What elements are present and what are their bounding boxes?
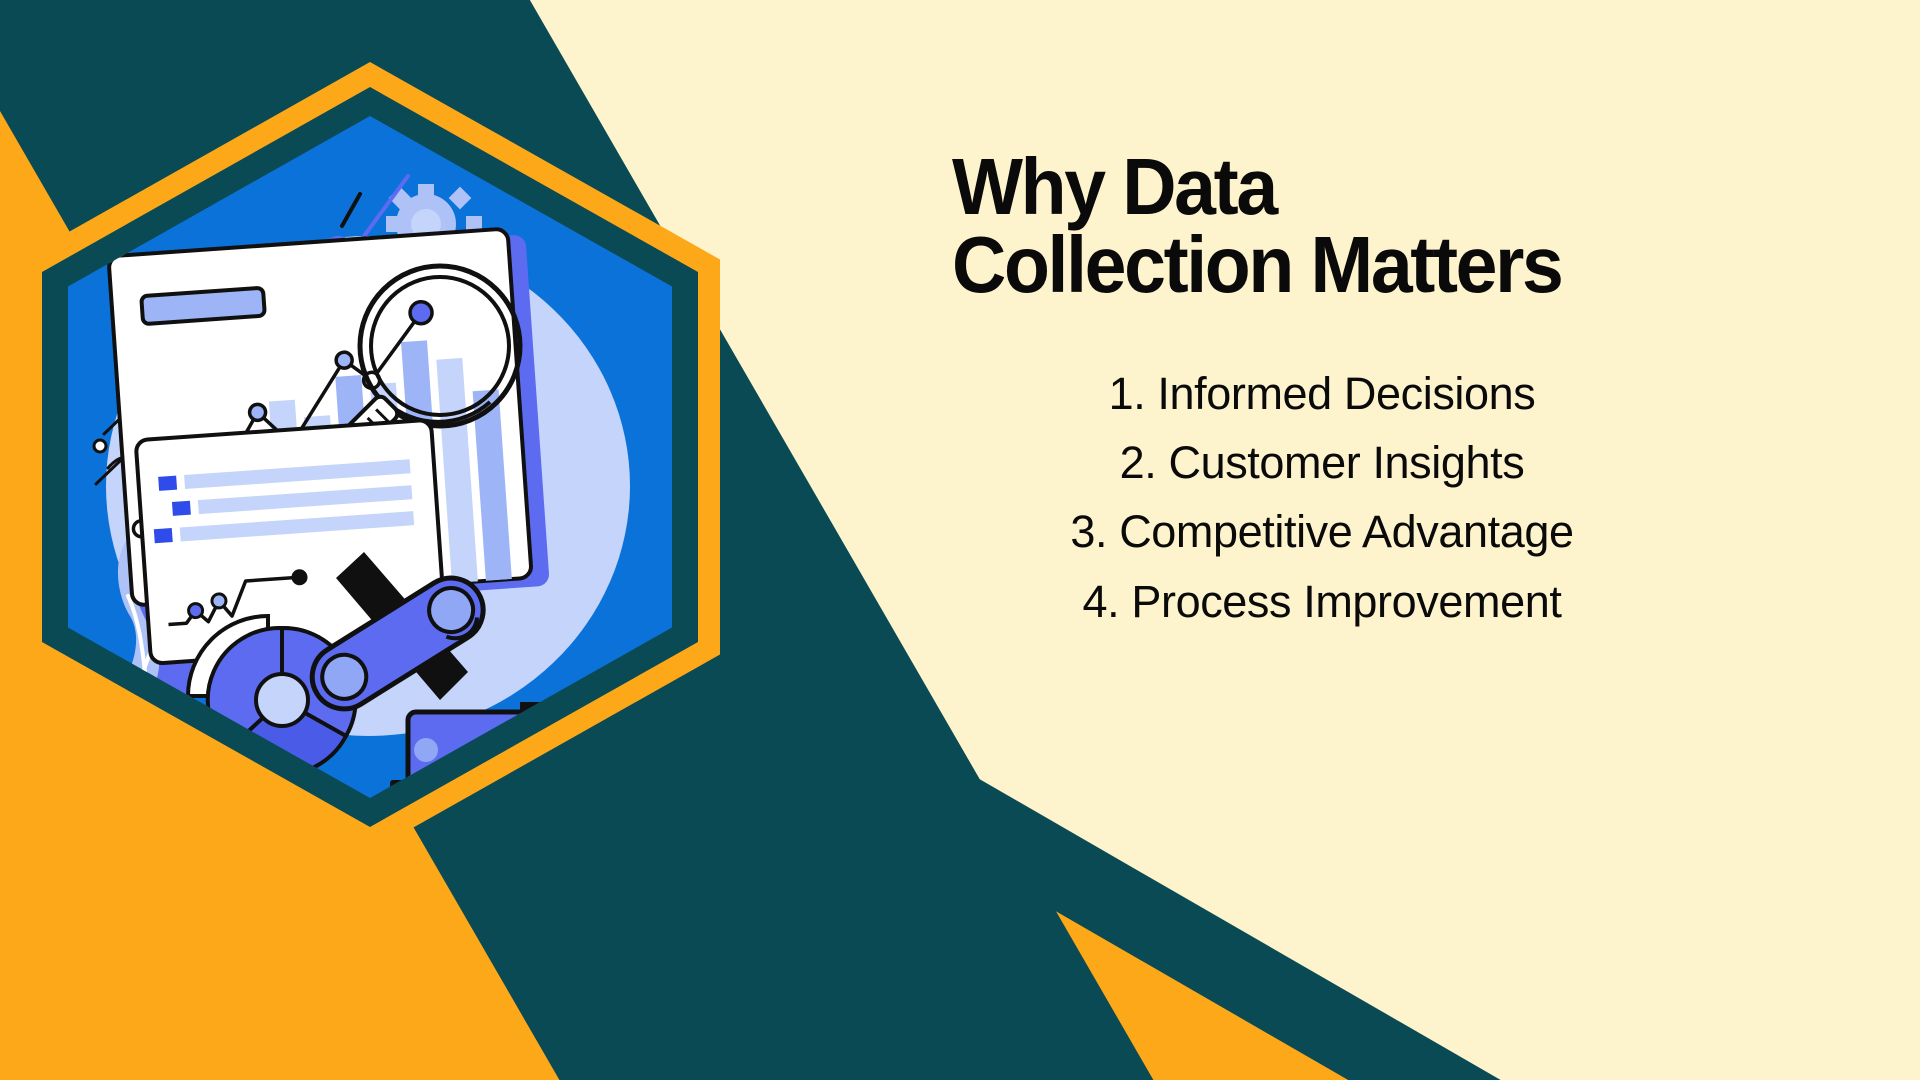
- list-item: 1. Informed Decisions: [952, 359, 1692, 428]
- hexagon-badge: [20, 62, 720, 852]
- list-item: 3. Competitive Advantage: [952, 497, 1692, 566]
- list-item: 4. Process Improvement: [952, 567, 1692, 636]
- content-column: Why Data Collection Matters 1. Informed …: [952, 148, 1742, 636]
- list-item: 2. Customer Insights: [952, 428, 1692, 497]
- page-title: Why Data Collection Matters: [952, 148, 1695, 305]
- benefits-list: 1. Informed Decisions 2. Customer Insigh…: [952, 359, 1692, 636]
- card-header-pill: [141, 288, 265, 324]
- slide-canvas: Why Data Collection Matters 1. Informed …: [0, 0, 1920, 1080]
